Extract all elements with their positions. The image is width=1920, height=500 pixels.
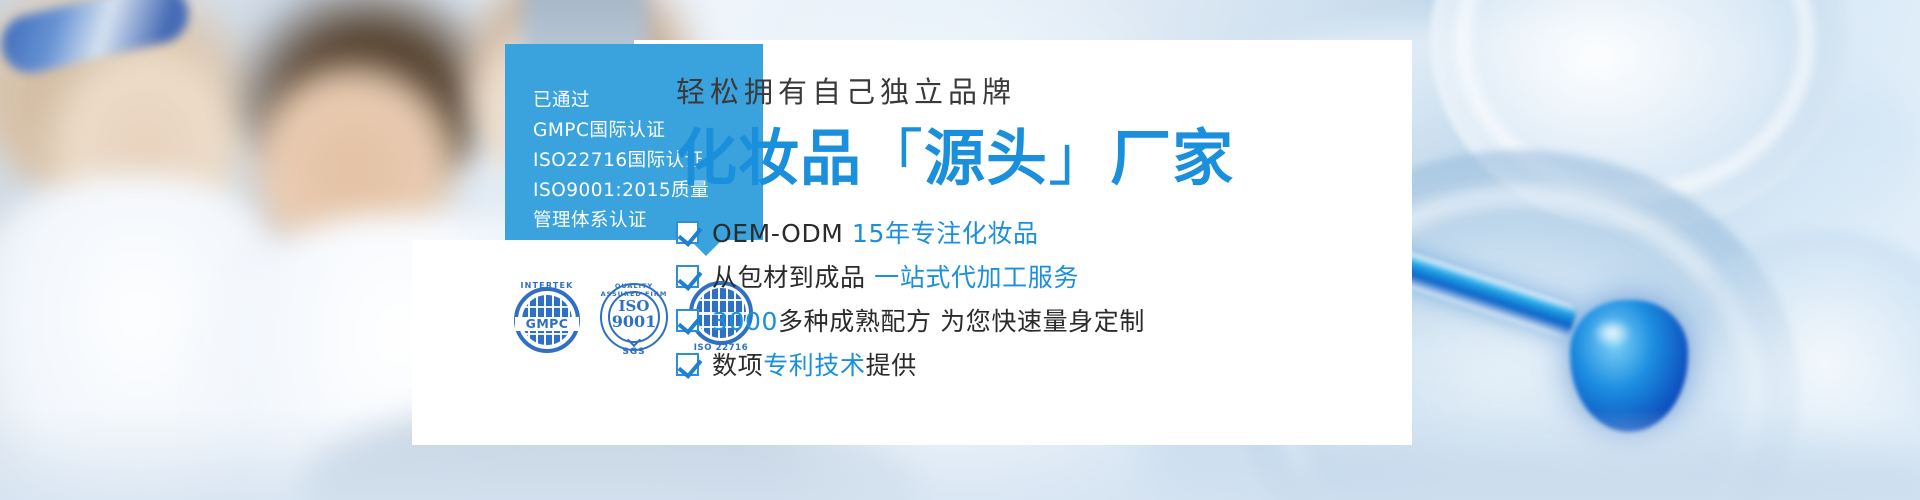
headline-part-1: 化妆品 (676, 123, 862, 194)
iso-9001-sgs-logo: QUALITY ASSURED FIRM ISO 9001 SGS (596, 273, 672, 361)
droplet-highlight (1592, 318, 1632, 348)
list-item: 数项专利技术提供 (676, 342, 1396, 386)
feature-3-accent: 3000 (712, 307, 778, 336)
intertek-label: INTERTEK (512, 281, 582, 290)
feature-3-dark-b: 多种成熟配方 为您快速量身定制 (778, 307, 1145, 336)
gmpc-wordmark: GMPC (515, 317, 579, 331)
checkbox-checked-icon (676, 221, 699, 244)
feature-2-dark-a: 从包材到成品 (712, 263, 874, 292)
iso9001-text: ISO 9001 (604, 299, 664, 329)
feature-4-accent: 专利技术 (763, 351, 865, 380)
list-item: OEM-ODM 15年专注化妆品 (676, 210, 1396, 254)
feature-text-4: 数项专利技术提供 (712, 346, 917, 382)
feature-4-dark-b: 提供 (866, 351, 917, 380)
checkbox-checked-icon (676, 309, 699, 332)
feature-text-2: 从包材到成品 一站式代加工服务 (712, 258, 1079, 294)
intertek-arc-text: INTERTEK (512, 281, 582, 307)
banner-stage: 已通过 GMPC国际认证 ISO22716国际认证 ISO9001:2015质量… (0, 0, 1920, 500)
feature-4-dark-a: 数项 (712, 351, 763, 380)
checkbox-checked-icon (676, 353, 699, 376)
headline-part-3: 厂家 (1110, 123, 1234, 194)
list-item: 3000多种成熟配方 为您快速量身定制 (676, 298, 1396, 342)
feature-text-1: OEM-ODM 15年专注化妆品 (712, 214, 1039, 250)
feature-list: OEM-ODM 15年专注化妆品 从包材到成品 一站式代加工服务 3000多种成… (676, 210, 1396, 386)
quality-assured-firm-label: QUALITY ASSURED FIRM (598, 282, 670, 298)
feature-text-3: 3000多种成熟配方 为您快速量身定制 (712, 302, 1145, 338)
sub-headline: 轻松拥有自己独立品牌 (676, 72, 1396, 112)
main-copy: 轻松拥有自己独立品牌 化妆品「源头」厂家 OEM-ODM 15年专注化妆品 从包… (676, 72, 1396, 386)
page-title: 化妆品「源头」厂家 (676, 122, 1396, 196)
feature-1-dark-a: OEM-ODM (712, 219, 852, 248)
headline-bracket-open: 「 (862, 123, 924, 194)
headline-part-2: 源头 (924, 123, 1048, 194)
sgs-label: SGS (610, 347, 658, 357)
headline-bracket-close: 」 (1048, 123, 1110, 194)
gmpc-intertek-logo: INTERTEK GMPC (509, 273, 585, 361)
feature-1-accent: 15年专注化妆品 (852, 219, 1039, 248)
iso-number: 9001 (604, 314, 664, 329)
feature-2-accent: 一站式代加工服务 (874, 263, 1079, 292)
checkbox-checked-icon (676, 265, 699, 288)
list-item: 从包材到成品 一站式代加工服务 (676, 254, 1396, 298)
